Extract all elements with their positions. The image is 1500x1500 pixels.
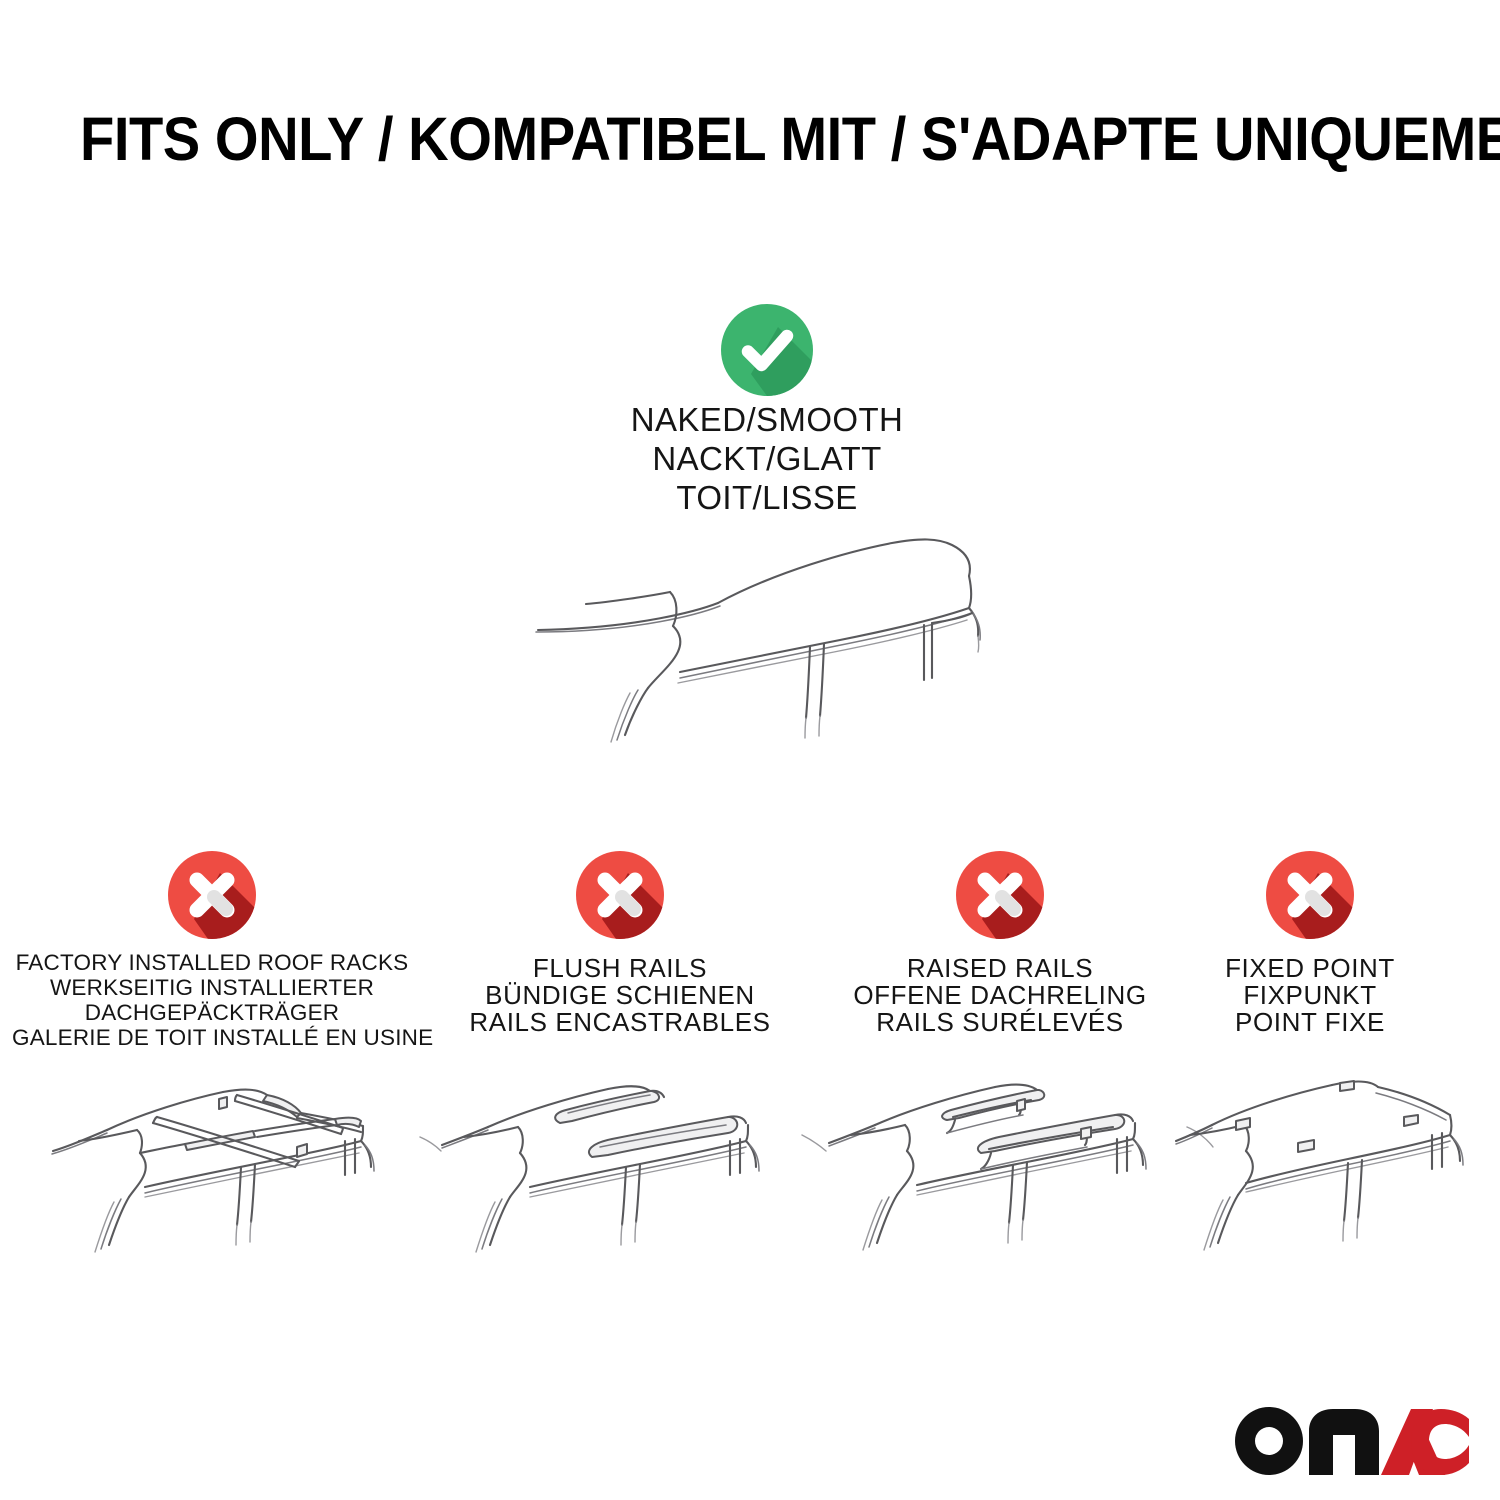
incompatible-label-flush-rails: FLUSH RAILS BÜNDIGE SCHIENEN RAILS ENCAS… — [430, 955, 810, 1036]
x-circle-icon — [576, 851, 664, 939]
fixed-point-illustration — [1150, 1055, 1500, 1270]
page-title: FITS ONLY / KOMPATIBEL MIT / S'ADAPTE UN… — [80, 104, 1322, 174]
x-circle-icon — [168, 851, 256, 939]
incompatible-label-fixed-point: FIXED POINT FIXPUNKT POINT FIXE — [1120, 955, 1500, 1036]
factory-roof-rack-illustration — [45, 1055, 445, 1270]
fitment-infographic: FITS ONLY / KOMPATIBEL MIT / S'ADAPTE UN… — [0, 0, 1500, 1500]
omac-logo — [1233, 1405, 1469, 1477]
check-circle-icon — [721, 304, 813, 396]
naked-smooth-roof-illustration — [520, 520, 1010, 800]
x-circle-icon — [1266, 851, 1354, 939]
compatible-label: NAKED/SMOOTH NACKT/GLATT TOIT/LISSE — [567, 400, 967, 517]
flush-rails-illustration — [440, 1055, 830, 1270]
x-circle-icon — [956, 851, 1044, 939]
incompatible-label-factory-roof-racks: FACTORY INSTALLED ROOF RACKS WERKSEITIG … — [12, 950, 412, 1050]
